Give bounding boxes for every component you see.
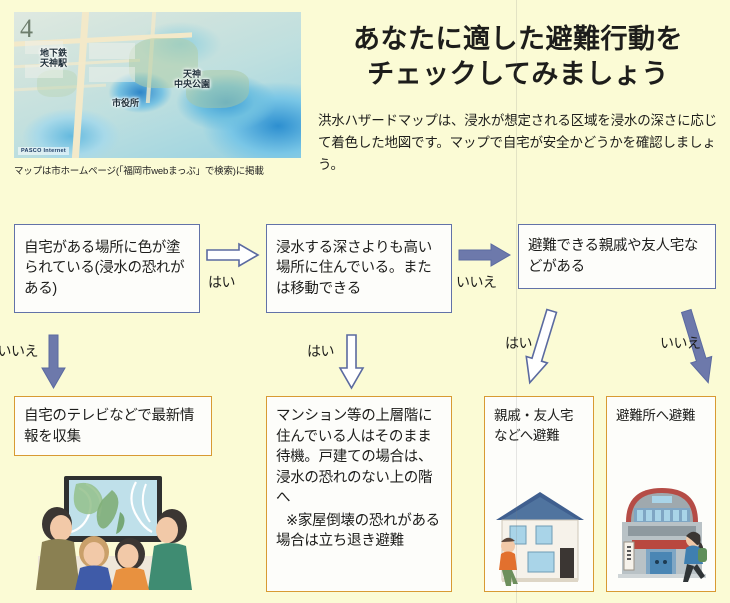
arrow-label-q3-no: いいえ	[660, 333, 701, 353]
arrow-label-q3-yes: はい	[505, 333, 532, 353]
header-description: 洪水ハザードマップは、浸水が想定される区域を浸水の深さに応じて着色した地図です。…	[318, 110, 718, 176]
flood-hazard-map: 4 地下鉄 天神駅 市役所 天神 中央公園 PASCO Internet	[14, 12, 301, 158]
question-relatives-friends-house-text: 避難できる親戚や友人宅などがある	[528, 236, 706, 277]
question-above-flood-depth: 浸水する深さよりも高い場所に住んでいる。または移動できる	[266, 224, 452, 313]
arrow-q2-yes-to-upper-floor	[338, 334, 365, 390]
map-label-city-hall: 市役所	[112, 98, 139, 108]
map-page-number: 4	[20, 14, 33, 44]
page-title-line1: あなたに適した避難行動を	[353, 24, 683, 54]
evacuation-shelter-illustration	[612, 478, 712, 588]
outcome-stay-upper-floor-note: ※家屋倒壊の恐れがある場合は立ち退き避難	[276, 511, 442, 552]
arrow-label-q2-yes: はい	[307, 341, 334, 361]
question-home-colored-text: 自宅がある場所に色が塗られている(浸水の恐れがある)	[24, 238, 190, 300]
map-caption: マップは市ホームページ(「福岡市webまっぷ」で検索)に掲載	[14, 163, 314, 177]
map-block	[89, 67, 135, 82]
outcome-stay-upper-floor: マンション等の上層階に住んでいる人はそのまま待機。戸建ての場合は、浸水の恐れのな…	[266, 396, 452, 592]
family-watching-tv-illustration	[24, 468, 202, 590]
outcome-stay-upper-floor-text: マンション等の上層階に住んでいる人はそのまま待機。戸建ての場合は、浸水の恐れのな…	[276, 406, 442, 509]
map-image: 4 地下鉄 天神駅 市役所 天神 中央公園 PASCO Internet	[14, 12, 301, 158]
infographic-page: 4 地下鉄 天神駅 市役所 天神 中央公園 PASCO Internet マップ…	[0, 0, 730, 603]
page-title: あなたに適した避難行動を チェックしてみましょう	[318, 22, 718, 92]
arrow-q2-no-to-q3	[458, 242, 512, 268]
arrow-q1-yes-to-q2	[206, 242, 260, 268]
map-label-central-park: 天神 中央公園	[174, 69, 210, 90]
outcome-watch-tv-text: 自宅のテレビなどで最新情報を収集	[24, 406, 202, 447]
map-block	[89, 43, 135, 59]
house-illustration	[492, 486, 588, 586]
page-fold-line	[516, 0, 517, 603]
arrow-q1-no-to-tv	[40, 334, 67, 390]
outcome-go-to-relatives-text: 親戚・友人宅などへ避難	[494, 406, 584, 445]
question-above-flood-depth-text: 浸水する深さよりも高い場所に住んでいる。または移動できる	[276, 238, 442, 300]
map-credit: PASCO Internet	[18, 147, 69, 155]
arrow-label-q1-yes: はい	[208, 272, 235, 292]
question-home-colored: 自宅がある場所に色が塗られている(浸水の恐れがある)	[14, 224, 200, 313]
map-label-subway-station: 地下鉄 天神駅	[40, 48, 67, 69]
arrow-label-q2-no: いいえ	[456, 272, 497, 292]
question-relatives-friends-house: 避難できる親戚や友人宅などがある	[518, 224, 716, 289]
outcome-go-to-shelter-text: 避難所へ避難	[616, 406, 706, 426]
outcome-watch-tv: 自宅のテレビなどで最新情報を収集	[14, 396, 212, 456]
header: あなたに適した避難行動を チェックしてみましょう 洪水ハザードマップは、浸水が想…	[318, 22, 718, 176]
page-title-line2: チェックしてみましょう	[367, 59, 669, 89]
arrow-label-q1-no: いいえ	[0, 341, 38, 361]
